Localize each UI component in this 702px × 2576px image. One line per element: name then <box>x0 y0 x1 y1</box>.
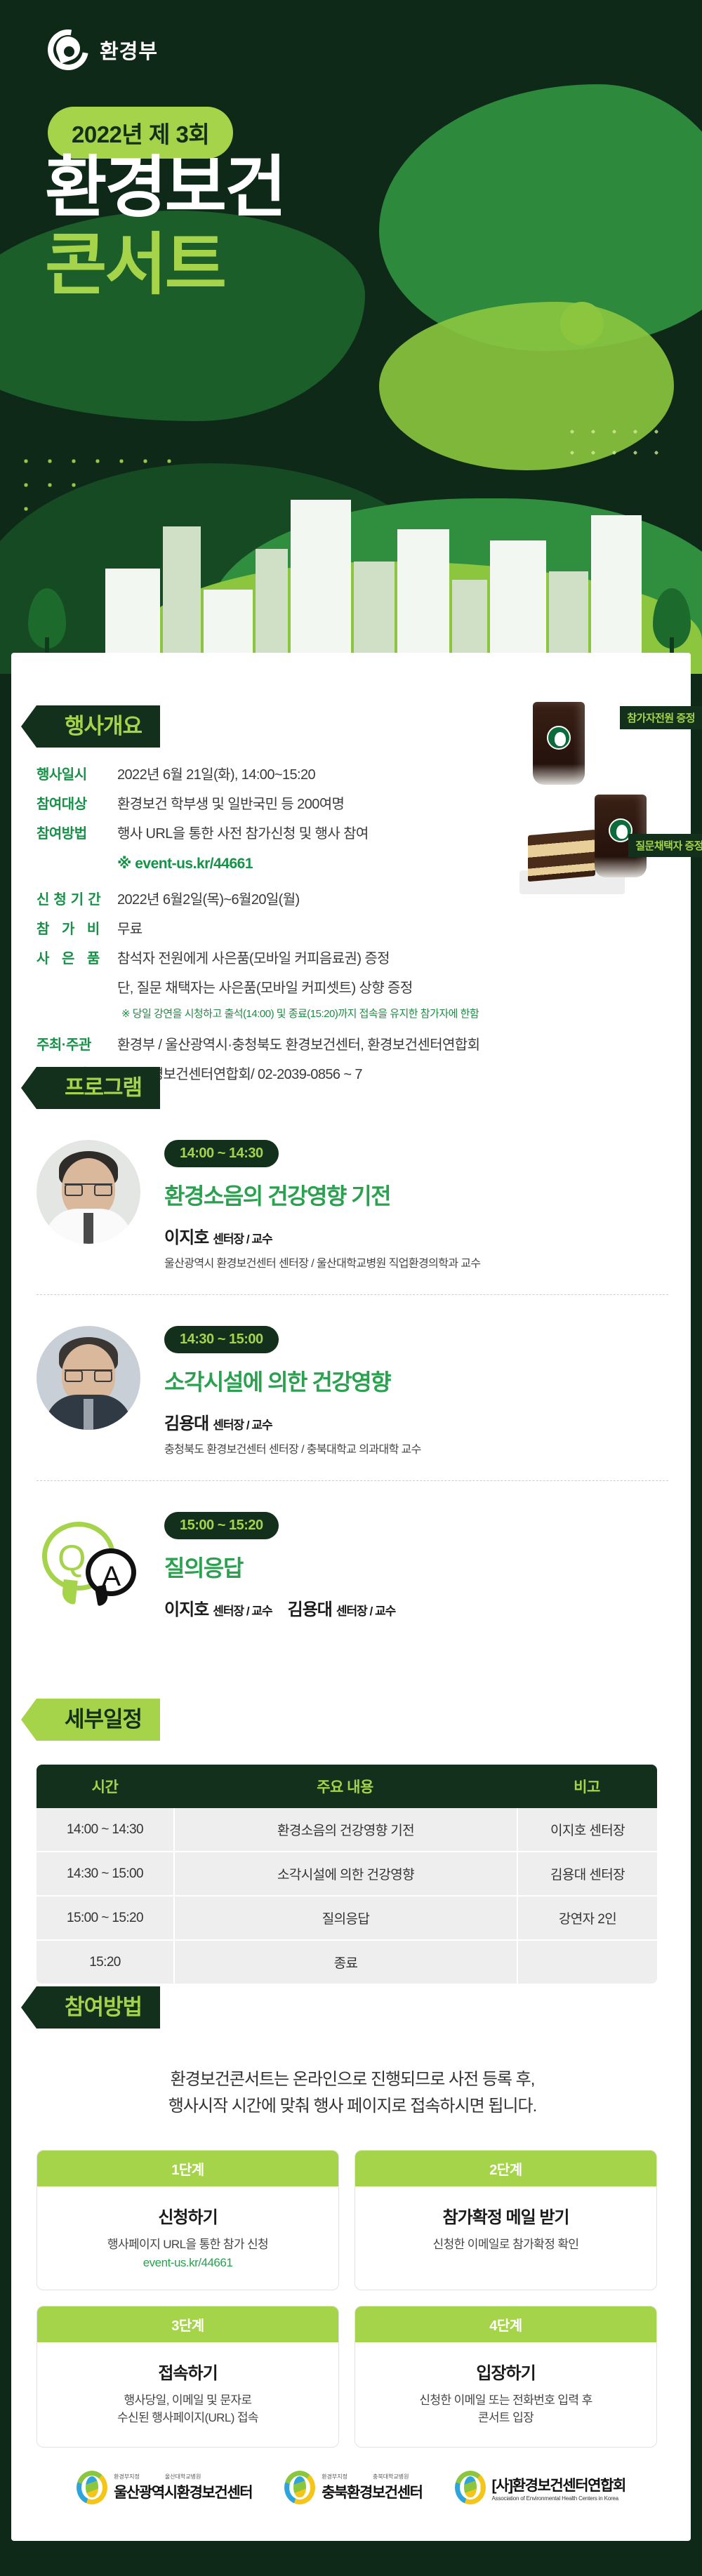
program-time: 14:30 ~ 15:00 <box>164 1326 279 1353</box>
gift-tag-all: 참가자전원 증정 <box>620 706 702 729</box>
join-lead: 환경보건콘서트는 온라인으로 진행되므로 사전 등록 후, 행사시작 시간에 맞… <box>37 2066 668 2120</box>
overview-value: 행사 URL을 통한 사전 참가신청 및 행사 참여 <box>117 822 369 842</box>
speaker-role: 센터장 / 교수 <box>213 1233 272 1246</box>
program-item: 14:30 ~ 15:00 소각시설에 의한 건강영향 김용대센터장 / 교수 … <box>37 1326 668 1456</box>
table-header-row: 시간 주요 내용 비고 <box>37 1765 657 1808</box>
overview-label: 주최·주관 <box>37 1033 117 1054</box>
section-schedule: 세부일정 시간 주요 내용 비고 14:00 ~ 14:30 환경소음의 건강영… <box>37 1699 668 1984</box>
column-header-time: 시간 <box>37 1765 173 1808</box>
cell-content: 환경소음의 건강영향 기전 <box>173 1808 517 1852</box>
overview-value: 2022년 6월2일(목)~6월20일(월) <box>117 888 300 908</box>
cell-note: 김용대 센터장 <box>517 1852 657 1897</box>
overview-label: 참 가 비 <box>37 917 117 938</box>
speaker-photo-kim <box>37 1326 140 1430</box>
divider <box>37 1480 668 1481</box>
city-skyline-illustration <box>0 442 702 674</box>
logo-name: 충북환경보건센터 <box>322 2481 422 2502</box>
divider <box>37 1294 668 1295</box>
overview-value: 환경부 / 울산광역시·충청북도 환경보건센터, 환경보건센터연합회 <box>117 1033 479 1054</box>
poster-root: 환경부 2022년 제 3회 환경보건 콘서트 행사개요 행사일시 2022년 … <box>0 0 702 2576</box>
cell-note: 이지호 센터장 <box>517 1808 657 1852</box>
program-title: 환경소음의 건강영향 기전 <box>164 1179 668 1211</box>
step-title: 신청하기 <box>46 2203 330 2228</box>
gift-tag-qa: 질문채택자 증정 <box>628 834 702 857</box>
overview-value: 무료 <box>117 917 143 938</box>
section-program: 프로그램 14:00 ~ 14:30 환경소음의 건강영향 기전 이지호센터장 … <box>37 1067 668 1620</box>
logo-tiny-right: 충북대학교병원 <box>373 2473 409 2481</box>
cell-content: 소각시설에 의한 건강영향 <box>173 1852 517 1897</box>
cell-note: 강연자 2인 <box>517 1897 657 1941</box>
overview-heading: 행사개요 <box>37 705 160 748</box>
join-heading: 참여방법 <box>37 1986 160 2029</box>
cell-time: 14:00 ~ 14:30 <box>37 1808 173 1852</box>
step-url[interactable]: event-us.kr/44661 <box>46 2256 330 2270</box>
join-lead-line2: 행사시작 시간에 맞춰 행사 페이지로 접속하시면 됩니다. <box>37 2093 668 2120</box>
overview-value: 2022년 6월 21일(화), 14:00~15:20 <box>117 763 315 783</box>
poster-title-line2: 콘서트 <box>45 232 225 299</box>
overview-footnote-row: ※ 당일 강연을 시청하고 출석(14:00) 및 종료(15:20)까지 접속… <box>37 1006 668 1021</box>
column-header-note: 비고 <box>517 1765 657 1808</box>
step-title: 접속하기 <box>46 2359 330 2384</box>
cell-content: 종료 <box>173 1941 517 1984</box>
cell-time: 15:00 ~ 15:20 <box>37 1897 173 1941</box>
speaker-photo-lee <box>37 1140 140 1244</box>
cake-slice-icon <box>528 830 595 882</box>
footer-logos: 환경부지정 울산대학교병원 울산광역시환경보건센터 환경부지정 충북대학교병원 … <box>0 2471 702 2504</box>
table-row: 15:20 종료 <box>37 1941 657 1984</box>
program-item: 14:00 ~ 14:30 환경소음의 건강영향 기전 이지호센터장 / 교수 … <box>37 1140 668 1270</box>
gift-images: 참가자전원 증정 질문채택자 증정 <box>512 702 702 934</box>
ministry-name: 환경부 <box>100 35 158 65</box>
overview-label: 참여방법 <box>37 822 117 842</box>
program-title: 소각시설에 의한 건강영향 <box>164 1365 668 1397</box>
qa-role-1: 센터장 / 교수 <box>213 1605 272 1618</box>
ministry-logo: 환경부 <box>48 29 158 70</box>
overview-row: 사 은 품 참석자 전원에게 사은품(모바일 커피음료권) 증정 <box>37 947 668 967</box>
qa-role-2: 센터장 / 교수 <box>336 1605 395 1618</box>
qa-speech-bubble-icon: Q A <box>37 1512 140 1616</box>
logo-name: [사]환경보건센터연합회 <box>492 2474 625 2495</box>
step-badge: 2단계 <box>355 2151 656 2186</box>
overview-row: 주최·주관 환경부 / 울산광역시·충청북도 환경보건센터, 환경보건센터연합회 <box>37 1033 668 1054</box>
schedule-heading: 세부일정 <box>37 1699 160 1741</box>
qa-time: 15:00 ~ 15:20 <box>164 1512 279 1539</box>
speaker-role: 센터장 / 교수 <box>213 1419 272 1432</box>
logo-tiny-left: 환경부지정 <box>114 2473 140 2481</box>
korea-government-taegeuk-icon <box>48 29 88 70</box>
overview-footnote: ※ 당일 강연을 시청하고 출석(14:00) 및 종료(15:20)까지 접속… <box>117 1006 479 1021</box>
step-card-1: 1단계 신청하기 행사페이지 URL을 통한 참가 신청 event-us.kr… <box>37 2150 339 2291</box>
overview-gift-note-row: 단, 질문 채택자는 사은품(모바일 커피셋트) 상향 증정 <box>37 976 668 997</box>
logo-chungbuk-center: 환경부지정 충북대학교병원 충북환경보건센터 <box>284 2471 422 2504</box>
step-desc: 신청한 이메일로 참가확정 확인 <box>364 2236 648 2254</box>
step-badge: 1단계 <box>37 2151 338 2186</box>
step-card-4: 4단계 입장하기 신청한 이메일 또는 전화번호 입력 후 콘서트 입장 <box>355 2306 657 2447</box>
cell-content: 질의응답 <box>173 1897 517 1941</box>
logo-name: 울산광역시환경보건센터 <box>114 2481 252 2502</box>
step-desc: 신청한 이메일 또는 전화번호 입력 후 콘서트 입장 <box>364 2392 648 2426</box>
program-heading: 프로그램 <box>37 1067 160 1109</box>
step-badge: 3단계 <box>37 2306 338 2342</box>
step-title: 참가확정 메일 받기 <box>364 2203 648 2228</box>
join-lead-line1: 환경보건콘서트는 온라인으로 진행되므로 사전 등록 후, <box>37 2066 668 2093</box>
decorative-blob-a <box>379 84 702 351</box>
speaker-affiliation: 충청북도 환경보건센터 센터장 / 충북대학교 의과대학 교수 <box>164 1440 668 1456</box>
overview-label: 참여대상 <box>37 792 117 813</box>
program-item-qa: Q A 15:00 ~ 15:20 질의응답 이지호센터장 / 교수김용대센터장… <box>37 1512 668 1620</box>
section-join: 참여방법 환경보건콘서트는 온라인으로 진행되므로 사전 등록 후, 행사시작 … <box>37 1986 668 2448</box>
table-row: 14:30 ~ 15:00 소각시설에 의한 건강영향 김용대 센터장 <box>37 1852 657 1897</box>
step-desc: 행사당일, 이메일 및 문자로 수신된 행사페이지(URL) 접속 <box>46 2392 330 2426</box>
qa-speakers: 이지호센터장 / 교수김용대센터장 / 교수 <box>164 1595 668 1620</box>
cell-time: 14:30 ~ 15:00 <box>37 1852 173 1897</box>
qa-speaker-1: 이지호 <box>164 1600 208 1619</box>
speaker-name: 이지호 <box>164 1228 208 1247</box>
schedule-table: 시간 주요 내용 비고 14:00 ~ 14:30 환경소음의 건강영향 기전 … <box>37 1765 657 1984</box>
qa-title: 질의응답 <box>164 1551 668 1583</box>
sun-circle-icon <box>560 302 604 345</box>
step-badge: 4단계 <box>355 2306 656 2342</box>
step-title: 입장하기 <box>364 2359 648 2384</box>
center-emblem-icon <box>455 2471 486 2504</box>
overview-label: 사 은 품 <box>37 947 117 967</box>
table-row: 14:00 ~ 14:30 환경소음의 건강영향 기전 이지호 센터장 <box>37 1808 657 1852</box>
logo-name-en: Association of Environmental Health Cent… <box>492 2495 625 2502</box>
program-speaker: 김용대센터장 / 교수 <box>164 1409 668 1434</box>
center-emblem-icon <box>284 2471 315 2504</box>
speaker-affiliation: 울산광역시 환경보건센터 센터장 / 울산대학교병원 직업환경의학과 교수 <box>164 1254 668 1270</box>
speaker-name: 김용대 <box>164 1414 208 1433</box>
overview-label: 신청기간 <box>37 888 117 908</box>
table-row: 15:00 ~ 15:20 질의응답 강연자 2인 <box>37 1897 657 1941</box>
join-steps: 1단계 신청하기 행사페이지 URL을 통한 참가 신청 event-us.kr… <box>37 2150 657 2448</box>
step-card-3: 3단계 접속하기 행사당일, 이메일 및 문자로 수신된 행사페이지(URL) … <box>37 2306 339 2447</box>
program-speaker: 이지호센터장 / 교수 <box>164 1223 668 1248</box>
column-header-content: 주요 내용 <box>173 1765 517 1808</box>
logo-tiny-left: 환경부지정 <box>322 2473 347 2481</box>
step-card-2: 2단계 참가확정 메일 받기 신청한 이메일로 참가확정 확인 <box>355 2150 657 2291</box>
program-time: 14:00 ~ 14:30 <box>164 1140 279 1167</box>
step-desc: 행사페이지 URL을 통한 참가 신청 <box>46 2236 330 2254</box>
logo-ulsan-center: 환경부지정 울산대학교병원 울산광역시환경보건센터 <box>77 2471 252 2504</box>
hero-banner: 환경부 2022년 제 3회 환경보건 콘서트 <box>0 0 702 674</box>
overview-label: 행사일시 <box>37 763 117 783</box>
cell-time: 15:20 <box>37 1941 173 1984</box>
logo-tiny-right: 울산대학교병원 <box>165 2473 201 2481</box>
event-url[interactable]: ※ event-us.kr/44661 <box>117 855 253 872</box>
cell-note <box>517 1941 657 1984</box>
overview-value: 참석자 전원에게 사은품(모바일 커피음료권) 증정 <box>117 947 390 967</box>
poster-title-line1: 환경보건 <box>45 154 284 222</box>
center-emblem-icon <box>77 2471 107 2504</box>
coffee-cup-icon-1 <box>529 702 588 785</box>
overview-value: 환경보건 학부생 및 일반국민 등 200여명 <box>117 792 344 813</box>
qa-speaker-2: 김용대 <box>288 1600 332 1619</box>
overview-gift-note: 단, 질문 채택자는 사은품(모바일 커피셋트) 상향 증정 <box>117 976 413 997</box>
logo-association: [사]환경보건센터연합회 Association of Environmenta… <box>455 2471 625 2504</box>
